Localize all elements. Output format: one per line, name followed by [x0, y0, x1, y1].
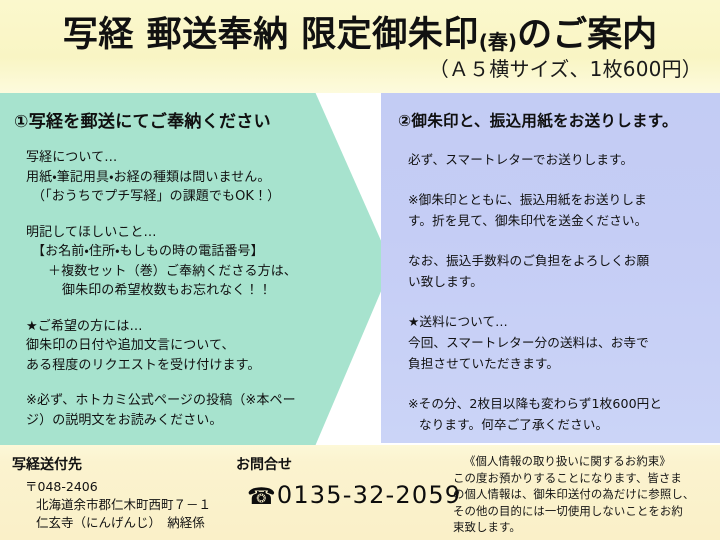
left-line: 用紙・筆記用具・お経の種類は問いません。 [14, 168, 344, 188]
left-line: ジ）の説明文をお読みください。 [14, 411, 344, 431]
right-line: なお、振込手数料のご負担をよろしくお願 [398, 250, 710, 271]
contact-block: お問合せ [236, 454, 456, 478]
left-block-required-info: 明記してほしいこと… 【お名前・住所・もしもの時の電話番号】 ＋複数セット（巻）… [14, 223, 344, 301]
title-tail-text: のご案内 [517, 15, 657, 55]
left-line: ある程度のリクエストを受け付けます。 [14, 356, 344, 376]
step-one-content: ①写経を郵送にてご奉納ください 写経について… 用紙・筆記用具・お経の種類は問い… [14, 107, 344, 430]
right-line: 負担させていただきます。 [398, 353, 710, 374]
privacy-notice-block: 《個人情報の取り扱いに関するお約束》 この度お預かりすることになります、皆さま … [452, 453, 714, 536]
street-address: 北海道余市郡仁木町西町７－１ [12, 496, 252, 514]
mailing-address-label: 写経送付先 [12, 454, 252, 474]
step-two-content: ②御朱印と、振込用紙をお送りします。 必ず、スマートレターでお送りします。 ※御… [398, 109, 710, 454]
telephone-number: 0135-32-2059 [277, 481, 461, 509]
right-block-delivery: 必ず、スマートレターでお送りします。 [398, 149, 710, 170]
right-line: 必ず、スマートレターでお送りします。 [398, 149, 710, 170]
title-main-text: 写経 郵送奉納 限定御朱印 [63, 15, 479, 55]
privacy-notice-line: 束致します。 [452, 519, 714, 536]
panels-section: ①写経を郵送にてご奉納ください 写経について… 用紙・筆記用具・お経の種類は問い… [0, 93, 720, 445]
right-block-transfer-slip: ※御朱印とともに、振込用紙をお送りしま す。折を見て、御朱印代を送金ください。 [398, 189, 710, 231]
step-two-heading: ②御朱印と、振込用紙をお送りします。 [398, 109, 710, 131]
right-line: ※その分、2枚目以降も変わらず1枚600円と [398, 393, 710, 414]
contact-label: お問合せ [236, 454, 456, 474]
left-line: 写経について… [14, 148, 344, 168]
mailing-address-block: 写経送付先 〒048-2406 北海道余市郡仁木町西町７－１ 仁玄寺（にんげんじ… [12, 454, 252, 532]
left-block-shakyo-about: 写経について… 用紙・筆記用具・お経の種類は問いません。 （「おうちでプチ写経」… [14, 148, 344, 207]
left-line: 【お名前・住所・もしもの時の電話番号】 [14, 242, 344, 262]
telephone-icon: ☎ [247, 484, 277, 510]
header-band: 写経 郵送奉納 限定御朱印(春)のご案内 （Ａ５横サイズ、1枚600円） [0, 0, 720, 93]
page-title: 写経 郵送奉納 限定御朱印(春)のご案内 [0, 6, 720, 57]
left-line: （「おうちでプチ写経」の課題でもOK！） [14, 187, 344, 207]
left-line: ★ご希望の方には… [14, 317, 344, 337]
privacy-notice-title: 《個人情報の取り扱いに関するお約束》 [452, 453, 714, 470]
right-line: なります。何卒ご了承ください。 [398, 414, 710, 435]
left-block-requests: ★ご希望の方には… 御朱印の日付や追加文言について、 ある程度のリクエストを受け… [14, 317, 344, 376]
page-subtitle: （Ａ５横サイズ、1枚600円） [429, 53, 702, 82]
privacy-notice-line: この度お預かりすることになります、皆さま [452, 470, 714, 487]
left-line: ＋複数セット（巻）ご奉納くださる方は、 [14, 262, 344, 282]
right-block-transfer-fee: なお、振込手数料のご負担をよろしくお願 い致します。 [398, 250, 710, 292]
footer-band: 写経送付先 〒048-2406 北海道余市郡仁木町西町７－１ 仁玄寺（にんげんじ… [0, 445, 720, 540]
right-block-price-note: ※その分、2枚目以降も変わらず1枚600円と なります。何卒ご了承ください。 [398, 393, 710, 435]
right-line: ★送料について… [398, 311, 710, 332]
temple-name: 仁玄寺（にんげんじ） 納経係 [12, 514, 252, 532]
left-line: ※必ず、ホトカミ公式ページの投稿（※本ペー [14, 391, 344, 411]
right-block-shipping: ★送料について… 今回、スマートレター分の送料は、お寺で 負担させていただきます… [398, 311, 710, 374]
right-line: い致します。 [398, 271, 710, 292]
step-one-heading: ①写経を郵送にてご奉納ください [14, 107, 344, 132]
telephone-link[interactable]: ☎0135-32-2059 [247, 481, 461, 510]
left-block-notice: ※必ず、ホトカミ公式ページの投稿（※本ペー ジ）の説明文をお読みください。 [14, 391, 344, 430]
privacy-notice-line: その他の目的には一切使用しないことをお約 [452, 503, 714, 520]
title-season-annotation: (春) [479, 30, 517, 54]
left-line: 御朱印の希望枚数もお忘れなく！！ [14, 281, 344, 301]
right-line: ※御朱印とともに、振込用紙をお送りしま [398, 189, 710, 210]
left-line: 御朱印の日付や追加文言について、 [14, 336, 344, 356]
right-line: す。折を見て、御朱印代を送金ください。 [398, 210, 710, 231]
right-line: 今回、スマートレター分の送料は、お寺で [398, 332, 710, 353]
left-line: 明記してほしいこと… [14, 223, 344, 243]
poster-root: 写経 郵送奉納 限定御朱印(春)のご案内 （Ａ５横サイズ、1枚600円） ①写経… [0, 0, 720, 540]
privacy-notice-line: の個人情報は、御朱印送付の為だけに参照し、 [452, 486, 714, 503]
postal-code: 〒048-2406 [12, 478, 252, 496]
